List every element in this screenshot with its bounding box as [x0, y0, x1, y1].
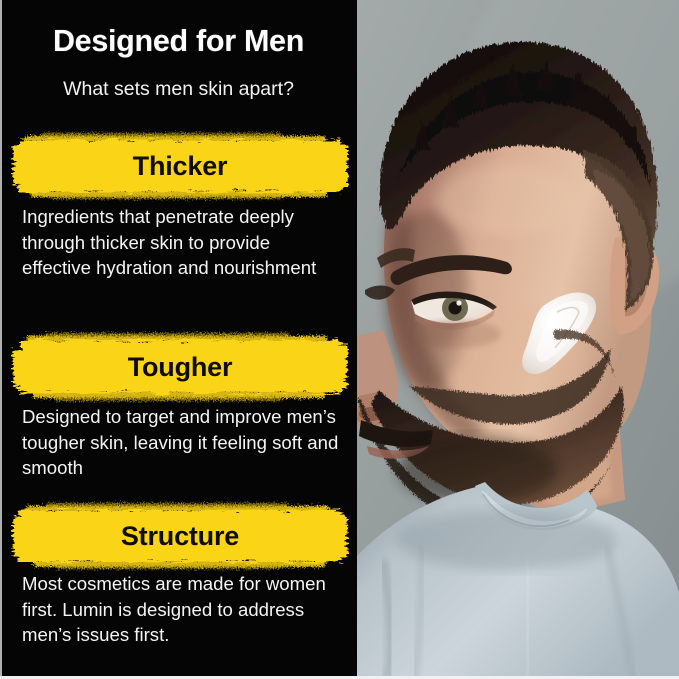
frame-left-edge [0, 0, 2, 679]
product-infographic: Designed for Men What sets men skin apar… [0, 0, 679, 679]
banner-label: Thicker [11, 130, 349, 202]
brush-banner-thicker: Thicker [11, 130, 349, 202]
model-photo [357, 0, 679, 679]
brush-banner-tougher: Tougher [11, 331, 349, 403]
page-title: Designed for Men [0, 26, 357, 57]
model-photo-illustration [357, 0, 679, 679]
section-body-tougher: Designed to target and improve men’s tou… [22, 404, 344, 481]
text-panel: Designed for Men What sets men skin apar… [0, 0, 357, 679]
brush-banner-structure: Structure [11, 500, 349, 572]
banner-label: Structure [11, 500, 349, 572]
banner-label: Tougher [11, 331, 349, 403]
section-body-structure: Most cosmetics are made for women first.… [22, 571, 344, 648]
page-subtitle: What sets men skin apart? [0, 80, 357, 100]
section-body-thicker: Ingredients that penetrate deeply throug… [22, 204, 344, 281]
